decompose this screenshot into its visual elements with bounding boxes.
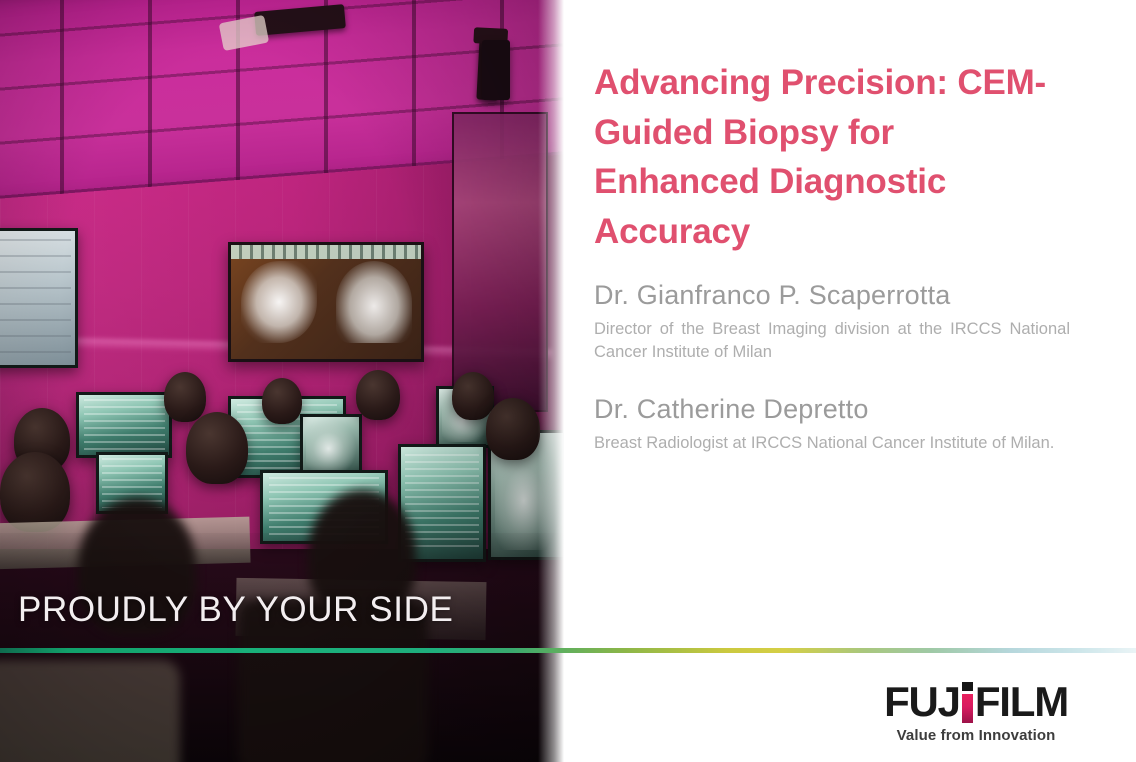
speaker-role: Director of the Breast Imaging division … — [594, 318, 1070, 365]
page-title: Advancing Precision: CEM-Guided Biopsy f… — [594, 58, 1064, 257]
fujifilm-logo: FUJ FILM Value from Innovation — [884, 681, 1068, 744]
logo-tagline: Value from Innovation — [884, 727, 1068, 744]
speaker-name: Dr. Catherine Depretto — [594, 392, 1070, 427]
speaker-entry: Dr. Gianfranco P. Scaperrotta Director o… — [594, 278, 1070, 364]
speaker-name: Dr. Gianfranco P. Scaperrotta — [594, 278, 1070, 313]
logo-text-film: FILM — [975, 681, 1068, 723]
webinar-title-slide: PROUDLY BY YOUR SIDE Advancing Precision… — [0, 0, 1136, 762]
speaker-entry: Dr. Catherine Depretto Breast Radiologis… — [594, 392, 1070, 455]
speaker-list: Dr. Gianfranco P. Scaperrotta Director o… — [594, 278, 1070, 483]
fujifilm-wordmark: FUJ FILM — [884, 681, 1068, 723]
logo-text-fuj: FUJ — [884, 681, 960, 723]
brand-tagline: PROUDLY BY YOUR SIDE — [18, 590, 453, 630]
speaker-role: Breast Radiologist at IRCCS National Can… — [594, 432, 1070, 455]
content-panel: Advancing Precision: CEM-Guided Biopsy f… — [594, 0, 1094, 762]
logo-i-icon — [961, 681, 974, 723]
logo-i-dot — [962, 682, 973, 691]
logo-i-stem — [962, 694, 973, 723]
